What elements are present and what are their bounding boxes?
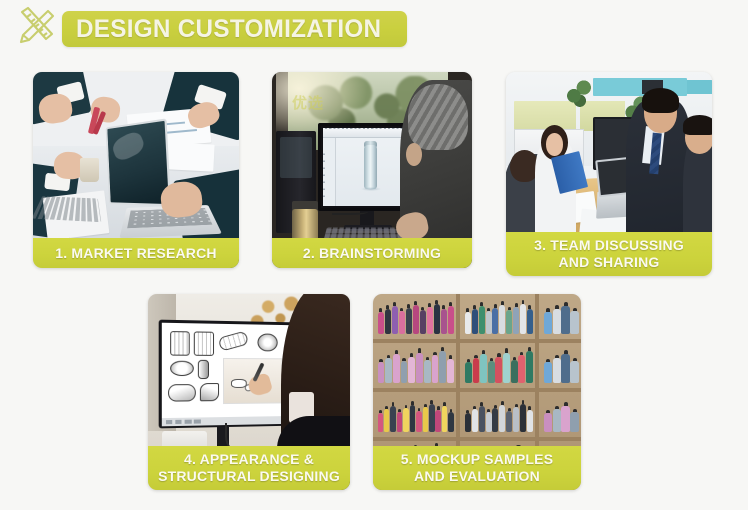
sample-bottle (486, 311, 492, 334)
sample-bottle (561, 354, 569, 383)
sample-bottle (427, 307, 433, 334)
sample-bottle (553, 409, 561, 432)
shelf-bay (375, 343, 460, 388)
sample-bottle (544, 362, 552, 383)
sample-bottle (526, 351, 533, 383)
sample-bottle (473, 358, 480, 383)
sample-bottle (479, 406, 485, 432)
sample-bottle (495, 357, 502, 383)
process-card-team-discussing[interactable]: 3. TEAM DISCUSSING AND SHARING (506, 72, 712, 276)
sample-bottle (385, 309, 391, 334)
card-label-line2: AND SHARING (534, 254, 684, 271)
sample-bottle (499, 305, 505, 334)
sample-bottle (570, 361, 578, 383)
card-label-line1: 3. TEAM DISCUSSING (534, 237, 684, 254)
process-card-brainstorming[interactable]: 优选 2. B (272, 72, 472, 268)
card-label-mockup-samples: 5. MOCKUP SAMPLES AND EVALUATION (373, 446, 581, 490)
sample-bottle (393, 354, 400, 383)
sample-bottle (403, 408, 409, 432)
sample-bottle (465, 362, 472, 383)
card-label-market-research: 1. MARKET RESEARCH (33, 238, 239, 268)
sample-bottle (408, 357, 415, 383)
sample-bottle (424, 360, 431, 383)
sample-bottle (385, 358, 392, 383)
sample-bottle (570, 311, 578, 334)
sample-bottle (513, 307, 519, 334)
sample-bottle (561, 406, 569, 432)
sample-bottle (392, 306, 398, 334)
shelf-row (373, 392, 581, 441)
sample-bottle (486, 412, 492, 432)
process-card-market-research[interactable]: 1. MARKET RESEARCH (33, 72, 239, 268)
sample-bottle (553, 358, 561, 383)
sample-bottle (378, 312, 384, 334)
shelf-bay (462, 392, 539, 437)
sample-bottle (527, 410, 533, 432)
sample-bottle (506, 310, 512, 334)
sample-bottle (472, 409, 478, 432)
sample-bottle (553, 309, 561, 334)
card-label-line2: STRUCTURAL DESIGNING (158, 468, 340, 485)
shelf-bay (375, 392, 460, 437)
shelf-bay (541, 392, 581, 437)
ruler-pencil-icon (12, 5, 58, 47)
sample-bottle (447, 359, 454, 383)
sample-bottle (448, 412, 454, 432)
sample-bottle (465, 312, 471, 334)
card-label-line2: AND EVALUATION (401, 468, 554, 485)
card-label-appearance-designing: 4. APPEARANCE & STRUCTURAL DESIGNING (148, 446, 350, 490)
shelf-bay (375, 294, 460, 339)
sample-bottle (406, 308, 412, 334)
sample-bottle (544, 312, 552, 334)
sample-bottle (410, 405, 416, 432)
shelf-bay (462, 343, 539, 388)
sample-bottle (432, 355, 439, 383)
sample-bottle (434, 304, 440, 334)
shelf-row (373, 343, 581, 392)
sample-bottle (401, 361, 408, 383)
card-label-line1: 4. APPEARANCE & (158, 451, 340, 468)
process-card-mockup-samples[interactable]: 5. MOCKUP SAMPLES AND EVALUATION (373, 294, 581, 490)
sample-bottle (561, 306, 569, 334)
sample-bottle (518, 355, 525, 383)
page-header: DESIGN CUSTOMIZATION (0, 0, 748, 58)
sample-bottle (527, 309, 533, 334)
sample-bottle (479, 306, 485, 334)
sample-bottle (499, 405, 505, 432)
sample-bottle (439, 351, 446, 383)
sample-bottle (488, 361, 495, 383)
sample-bottle (390, 406, 396, 432)
sample-bottle (429, 404, 435, 432)
sample-bottle (544, 413, 552, 432)
shelf-row (373, 294, 581, 343)
card-label-brainstorming: 2. BRAINSTORMING (272, 238, 472, 268)
sample-bottle (492, 308, 498, 334)
sample-bottle (378, 413, 384, 432)
sample-bottle (570, 412, 578, 432)
sample-bottle (448, 306, 454, 334)
sample-bottle (503, 353, 510, 383)
shelf-bay (462, 294, 539, 339)
card-label-line1: 1. MARKET RESEARCH (55, 245, 217, 262)
sample-bottle (513, 407, 519, 432)
sample-bottle (442, 406, 448, 432)
sample-bottle (492, 408, 498, 432)
sample-bottle (480, 354, 487, 383)
card-label-line1: 2. BRAINSTORMING (303, 245, 441, 262)
shelf-bay (541, 343, 581, 388)
shelf-bay (541, 294, 581, 339)
sample-bottle (413, 305, 419, 334)
sample-bottle (423, 407, 429, 432)
card-label-team-discussing: 3. TEAM DISCUSSING AND SHARING (506, 232, 712, 276)
sample-bottle (416, 353, 423, 383)
sample-bottle (511, 360, 518, 383)
page-title: DESIGN CUSTOMIZATION (76, 17, 381, 42)
sample-bottle (420, 310, 426, 334)
sample-bottle (416, 411, 422, 432)
sample-bottle (472, 309, 478, 334)
image-watermark: 优选 (292, 92, 324, 113)
sample-bottle (520, 404, 526, 432)
sample-bottle (378, 362, 385, 383)
sample-bottle (399, 311, 405, 334)
process-card-appearance-structural-designing[interactable]: 4. APPEARANCE & STRUCTURAL DESIGNING (148, 294, 350, 490)
card-label-line1: 5. MOCKUP SAMPLES (401, 451, 554, 468)
sample-bottle (506, 411, 512, 432)
sample-bottle (465, 413, 471, 432)
sample-bottle (435, 410, 441, 432)
sample-bottle (441, 309, 447, 334)
sample-bottle (384, 409, 390, 432)
sample-bottle (520, 304, 526, 334)
sample-bottle (397, 412, 403, 432)
title-banner: DESIGN CUSTOMIZATION (62, 11, 407, 47)
